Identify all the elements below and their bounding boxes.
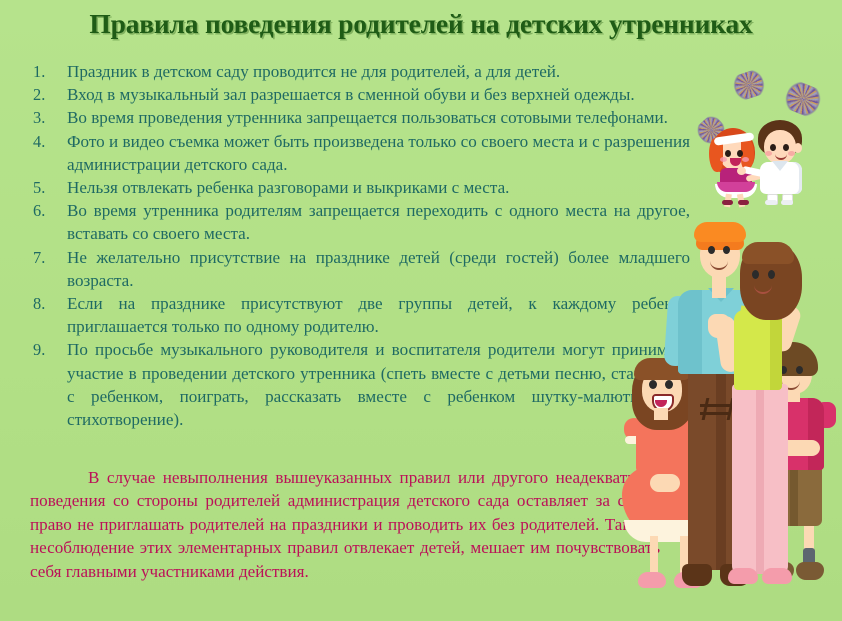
page-title: Правила поведения родителей на детских у… (0, 8, 842, 40)
closing-paragraph: В случае невыполнения вышеуказанных прав… (30, 466, 660, 583)
father-belt-line-bottom (700, 412, 730, 415)
list-item: 7. Не желательно присутствие на праздник… (30, 246, 690, 292)
list-item-number: 7. (30, 246, 67, 269)
father-hair-top (694, 222, 746, 242)
list-item-text: Не желательно присутствие на празднике д… (67, 246, 690, 292)
list-item-text: Во время утренника родителям запрещается… (67, 199, 690, 245)
girl-shoe-right (738, 200, 749, 205)
girl-skirt (717, 182, 755, 192)
mother-shoe-left (728, 568, 758, 584)
dancing-children-illustration (694, 72, 842, 204)
list-item-text: Праздник в детском саду проводится не дл… (67, 60, 690, 83)
son-shoe-right (796, 562, 824, 580)
list-item-number: 3. (30, 106, 67, 129)
list-item: 9. По просьбе музыкального руководителя … (30, 338, 690, 431)
son-shirt-shadow (808, 398, 824, 470)
list-item-number: 5. (30, 176, 67, 199)
list-item: 4. Фото и видео съемка может быть произв… (30, 130, 690, 176)
dancing-boy (752, 118, 818, 204)
girl-shoe-left (722, 200, 733, 205)
father-pocket-stitch (702, 398, 735, 420)
father-boot-left (682, 564, 712, 586)
boy-shoe-left (765, 200, 777, 205)
boy-hand (737, 167, 746, 175)
son-eye-right (796, 366, 803, 374)
list-item: 6. Во время утренника родителям запрещае… (30, 199, 690, 245)
poster-canvas: Правила поведения родителей на детских у… (0, 0, 842, 621)
list-item-text: Если на празднике присутствуют две групп… (67, 292, 690, 338)
list-item: 1. Праздник в детском саду проводится не… (30, 60, 690, 83)
list-item: 5. Нельзя отвлекать ребенка разговорами … (30, 176, 690, 199)
list-item-number: 9. (30, 338, 67, 361)
daughter-eye-right (665, 380, 673, 389)
family-of-four-illustration (622, 222, 842, 621)
list-item: 3. Во время проведения утренника запреща… (30, 106, 690, 129)
list-item-number: 4. (30, 130, 67, 153)
boy-eye-right (783, 144, 789, 151)
mother-top-shadow (770, 310, 782, 390)
boy-eye-left (770, 144, 776, 151)
father-eye-right (723, 246, 730, 254)
mother-eye-left (752, 270, 759, 279)
sparkle-icon (782, 79, 825, 120)
list-item: 8. Если на празднике присутствуют две гр… (30, 292, 690, 338)
boy-ear (794, 143, 802, 153)
mother-pants-shadow (756, 384, 764, 574)
father-eye-left (708, 246, 715, 254)
girl-cheek-left (720, 157, 727, 162)
list-item-text: Вход в музыкальный зал разрешается в сме… (67, 83, 690, 106)
daughter-eye-left (649, 380, 657, 389)
list-item-text: Во время проведения утренника запрещаетс… (67, 106, 690, 129)
boy-shoe-right (781, 200, 793, 205)
daughter-shoe-left (638, 572, 666, 588)
list-item-text: Фото и видео съемка может быть произведе… (67, 130, 690, 176)
list-item-number: 2. (30, 83, 67, 106)
boy-cheek-left (765, 151, 772, 156)
mother-bangs (742, 242, 794, 264)
list-item-text: Нельзя отвлекать ребенка разговорами и в… (67, 176, 690, 199)
rules-list: 1. Праздник в детском саду проводится не… (30, 60, 690, 431)
sparkle-icon (731, 68, 768, 102)
daughter-leg-left (650, 536, 658, 576)
list-item-number: 6. (30, 199, 67, 222)
list-item-number: 8. (30, 292, 67, 315)
list-item: 2. Вход в музыкальный зал разрешается в … (30, 83, 690, 106)
list-item-number: 1. (30, 60, 67, 83)
boy-cheek-right (788, 151, 795, 156)
girl-eye-right (737, 150, 743, 157)
son-shorts-shadow (790, 466, 798, 526)
daughter-neck (654, 408, 668, 420)
mother-shoe-right (762, 568, 792, 584)
mother-eye-right (768, 270, 775, 279)
father-belt-line-top (700, 404, 730, 407)
girl-eye-left (725, 150, 731, 157)
father-shirt-shadow (678, 290, 702, 374)
girl-cheek-right (742, 157, 749, 162)
daughter-hands (650, 474, 680, 492)
list-item-text: По просьбе музыкального руководителя и в… (67, 338, 690, 431)
father-hand-on-chest (708, 314, 730, 338)
